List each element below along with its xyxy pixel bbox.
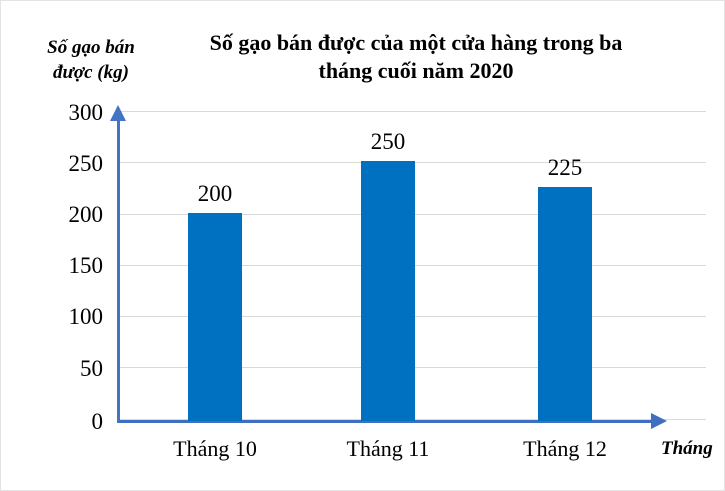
y-axis-line: [117, 119, 120, 423]
bar-value-thang-10: 200: [170, 182, 260, 205]
bar-thang-12[interactable]: [538, 187, 592, 421]
bar-thang-10[interactable]: [188, 213, 242, 421]
y-axis-title-line-2: được (kg): [21, 60, 161, 85]
bar-value-thang-11: 250: [343, 130, 433, 153]
bar-thang-11[interactable]: [361, 161, 415, 421]
y-tick-label-50: 50: [43, 357, 103, 380]
chart-title-line-1: Số gạo bán được của một cửa hàng trong b…: [161, 29, 671, 57]
x-axis-arrow-icon: [651, 413, 667, 429]
chart-title: Số gạo bán được của một cửa hàng trong b…: [161, 29, 671, 85]
x-tick-label-thang-12: Tháng 12: [480, 437, 650, 461]
y-axis-title: Số gạo bán được (kg): [21, 35, 161, 85]
chart-title-line-2: tháng cuối năm 2020: [161, 57, 671, 85]
y-tick-label-150: 150: [43, 254, 103, 277]
y-tick-label-200: 200: [43, 203, 103, 226]
y-tick-label-0: 0: [43, 410, 103, 433]
x-axis-title: Tháng: [661, 438, 713, 460]
bar-value-thang-12: 225: [520, 156, 610, 179]
chart-canvas: Số gạo bán được của một cửa hàng trong b…: [0, 0, 725, 491]
y-axis-arrow-icon: [110, 105, 126, 121]
y-tick-label-100: 100: [43, 305, 103, 328]
x-tick-label-thang-11: Tháng 11: [303, 437, 473, 461]
y-tick-label-250: 250: [43, 152, 103, 175]
y-tick-label-300: 300: [43, 101, 103, 124]
gridline-300: [119, 111, 706, 112]
y-axis-title-line-1: Số gạo bán: [21, 35, 161, 60]
x-tick-label-thang-10: Tháng 10: [130, 437, 300, 461]
